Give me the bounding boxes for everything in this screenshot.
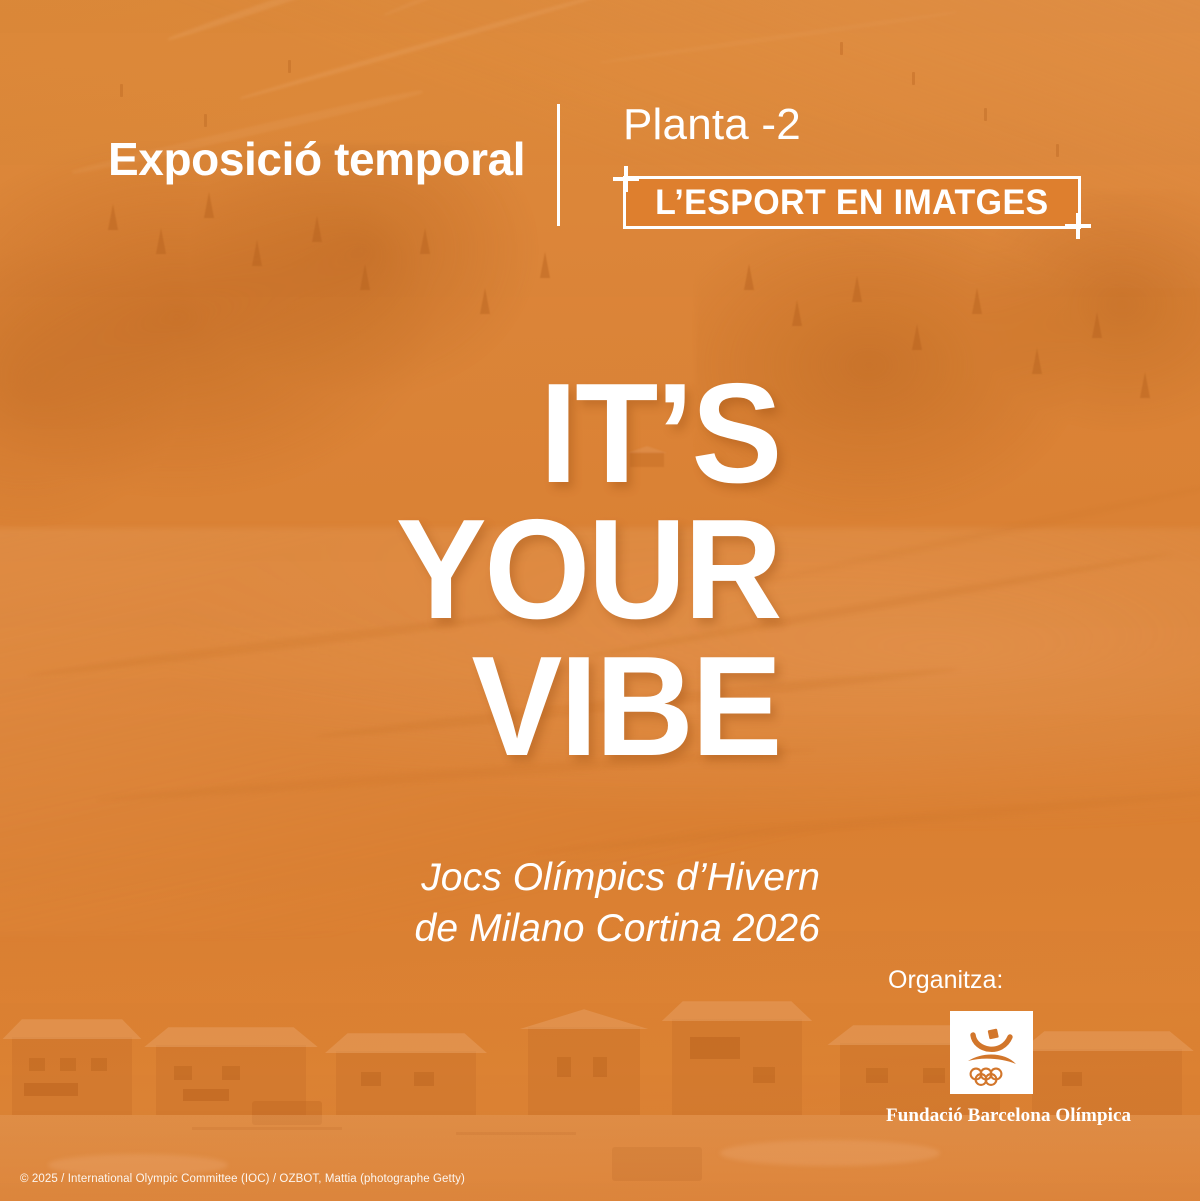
floor-label: Planta -2 <box>623 100 801 150</box>
page-subtitle: Jocs Olímpics d’Hivern de Milano Cortina… <box>0 852 820 955</box>
poster-content: Exposició temporal Planta -2 L’ESPORT EN… <box>0 0 1200 1201</box>
headline-line-2: YOUR <box>31 502 780 638</box>
header-divider <box>557 104 560 226</box>
poster-canvas: Exposició temporal Planta -2 L’ESPORT EN… <box>0 0 1200 1201</box>
headline-line-1: IT’S <box>31 366 780 502</box>
badge-label: L’ESPORT EN IMATGES <box>655 183 1048 223</box>
exhibition-title-badge: L’ESPORT EN IMATGES <box>623 176 1081 229</box>
fundacio-barcelona-olimpica-logo <box>950 1011 1033 1094</box>
plus-corner-icon <box>613 166 639 192</box>
photo-credit: © 2025 / International Olympic Committee… <box>20 1173 465 1185</box>
logo-caption: Fundació Barcelona Olímpica <box>886 1105 1096 1127</box>
organiser-label: Organitza: <box>888 966 1096 995</box>
subtitle-line-2: de Milano Cortina 2026 <box>0 903 820 954</box>
exhibition-label: Exposició temporal <box>108 132 525 186</box>
headline-line-3: VIBE <box>31 639 780 775</box>
subtitle-line-1: Jocs Olímpics d’Hivern <box>0 852 820 903</box>
page-title: IT’S YOUR VIBE <box>0 366 780 775</box>
plus-corner-icon <box>1065 213 1091 239</box>
organiser-block: Organitza: <box>886 966 1096 1127</box>
